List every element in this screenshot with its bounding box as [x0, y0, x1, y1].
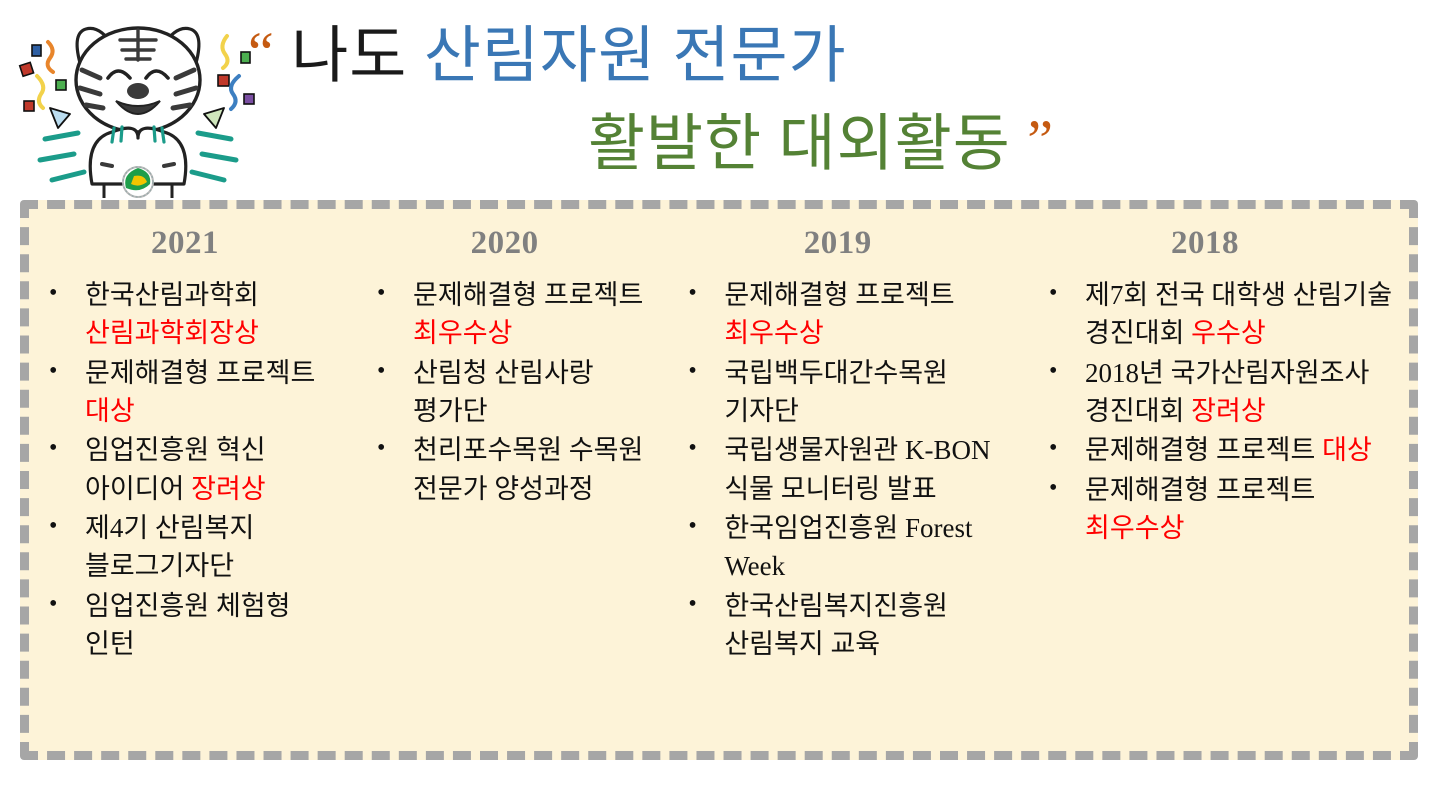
list-item: 문제해결형 프로젝트 대상: [1043, 431, 1401, 469]
activities-panel: 2021 한국산림과학회 산림과학회장상 문제해결형 프로젝트 대상 임업진흥원…: [20, 200, 1418, 760]
activity-text: 문제해결형 프로젝트: [724, 280, 954, 310]
list-item: 천리포수목원 수목원 전문가 양성과정: [371, 431, 665, 508]
award-label: 장려상: [191, 474, 266, 504]
activity-text: 임업진흥원 체험형 인턴: [85, 591, 290, 659]
list-item: 문제해결형 프로젝트 최우수상: [1043, 471, 1401, 548]
year-heading-2021: 2021: [43, 225, 359, 262]
award-label: 대상: [85, 396, 135, 426]
list-item: 2018년 국가산림자원조사 경진대회 장려상: [1043, 354, 1401, 431]
header-banner: “ 나도 산림자원 전문가 활발한 대외활동 ”: [0, 0, 1438, 198]
activity-text: 문제해결형 프로젝트: [413, 280, 643, 310]
list-item: 한국산림과학회 산림과학회장상: [43, 276, 343, 353]
close-quote: ”: [1027, 108, 1054, 173]
list-item: 국립생물자원관 K-BON 식물 모니터링 발표: [682, 431, 1023, 508]
award-label: 장려상: [1191, 396, 1266, 426]
award-label: 최우수상: [1085, 513, 1184, 543]
list-item: 산림청 산림사랑 평가단: [371, 354, 665, 431]
medal-emblem: [123, 167, 153, 197]
year-heading-2020: 2020: [371, 225, 666, 262]
award-label: 산림과학회장상: [85, 318, 259, 348]
activity-text: 산림청 산림사랑 평가단: [413, 358, 594, 426]
confetti-left: [20, 42, 70, 128]
activity-text: 국립생물자원관 K-BON 식물 모니터링 발표: [724, 435, 990, 503]
year-columns: 2021 한국산림과학회 산림과학회장상 문제해결형 프로젝트 대상 임업진흥원…: [29, 209, 1409, 751]
award-label: 우수상: [1191, 318, 1266, 348]
activity-text: 한국산림복지진흥원 산림복지 교육: [724, 591, 948, 659]
title-plain-text: 나도: [291, 23, 407, 91]
award-label: 최우수상: [413, 318, 512, 348]
activity-text: 한국임업진흥원 Forest Week: [724, 513, 972, 581]
clapping-tiger-mascot: [8, 8, 268, 200]
award-label: 최우수상: [724, 318, 823, 348]
year-column-2018: 2018 제7회 전국 대학생 산림기술 경진대회 우수상 2018년 국가산림…: [1029, 225, 1405, 741]
list-item: 한국임업진흥원 Forest Week: [682, 509, 1023, 586]
list-item: 임업진흥원 체험형 인턴: [43, 587, 343, 664]
title-line-2: 활발한 대외활동 ”: [588, 112, 1054, 176]
list-item: 제7회 전국 대학생 산림기술 경진대회 우수상: [1043, 276, 1401, 353]
title-highlight-blue: 산림자원 전문가: [424, 23, 847, 91]
title-line-1: “ 나도 산림자원 전문가: [248, 24, 847, 88]
activity-list-2018: 제7회 전국 대학생 산림기술 경진대회 우수상 2018년 국가산림자원조사 …: [1043, 276, 1401, 547]
year-column-2019: 2019 문제해결형 프로젝트 최우수상 국립백두대간수목원 기자단 국립생물자…: [672, 225, 1029, 741]
activity-text: 제4기 산림복지 블로그기자단: [85, 513, 254, 581]
activity-text: 국립백두대간수목원 기자단: [724, 358, 948, 426]
title-block: “ 나도 산림자원 전문가 활발한 대외활동 ”: [248, 6, 1428, 196]
year-column-2020: 2020 문제해결형 프로젝트 최우수상 산림청 산림사랑 평가단 천리포수목원…: [365, 225, 672, 741]
activity-text: 한국산림과학회: [85, 280, 259, 310]
activity-text: 문제해결형 프로젝트: [1085, 475, 1315, 505]
list-item: 문제해결형 프로젝트 대상: [43, 354, 343, 431]
year-heading-2018: 2018: [1043, 225, 1401, 262]
activity-text: 문제해결형 프로젝트: [85, 358, 315, 388]
title-highlight-green: 활발한 대외활동: [588, 111, 1011, 179]
list-item: 한국산림복지진흥원 산림복지 교육: [682, 587, 1023, 664]
list-item: 문제해결형 프로젝트 최우수상: [682, 276, 1023, 353]
list-item: 임업진흥원 혁신 아이디어 장려상: [43, 431, 343, 508]
tiger-nose: [127, 83, 149, 99]
activity-list-2020: 문제해결형 프로젝트 최우수상 산림청 산림사랑 평가단 천리포수목원 수목원 …: [371, 276, 666, 508]
activity-text: 문제해결형 프로젝트: [1085, 435, 1322, 465]
confetti-right: [204, 36, 254, 128]
open-quote: “: [248, 20, 275, 85]
list-item: 국립백두대간수목원 기자단: [682, 354, 1023, 431]
activity-list-2019: 문제해결형 프로젝트 최우수상 국립백두대간수목원 기자단 국립생물자원관 K-…: [682, 276, 1023, 663]
activity-list-2021: 한국산림과학회 산림과학회장상 문제해결형 프로젝트 대상 임업진흥원 혁신 아…: [43, 276, 359, 663]
list-item: 문제해결형 프로젝트 최우수상: [371, 276, 665, 353]
year-column-2021: 2021 한국산림과학회 산림과학회장상 문제해결형 프로젝트 대상 임업진흥원…: [33, 225, 365, 741]
award-label: 대상: [1322, 435, 1372, 465]
year-heading-2019: 2019: [682, 225, 1023, 262]
list-item: 제4기 산림복지 블로그기자단: [43, 509, 343, 586]
activity-text: 천리포수목원 수목원 전문가 양성과정: [413, 435, 643, 503]
